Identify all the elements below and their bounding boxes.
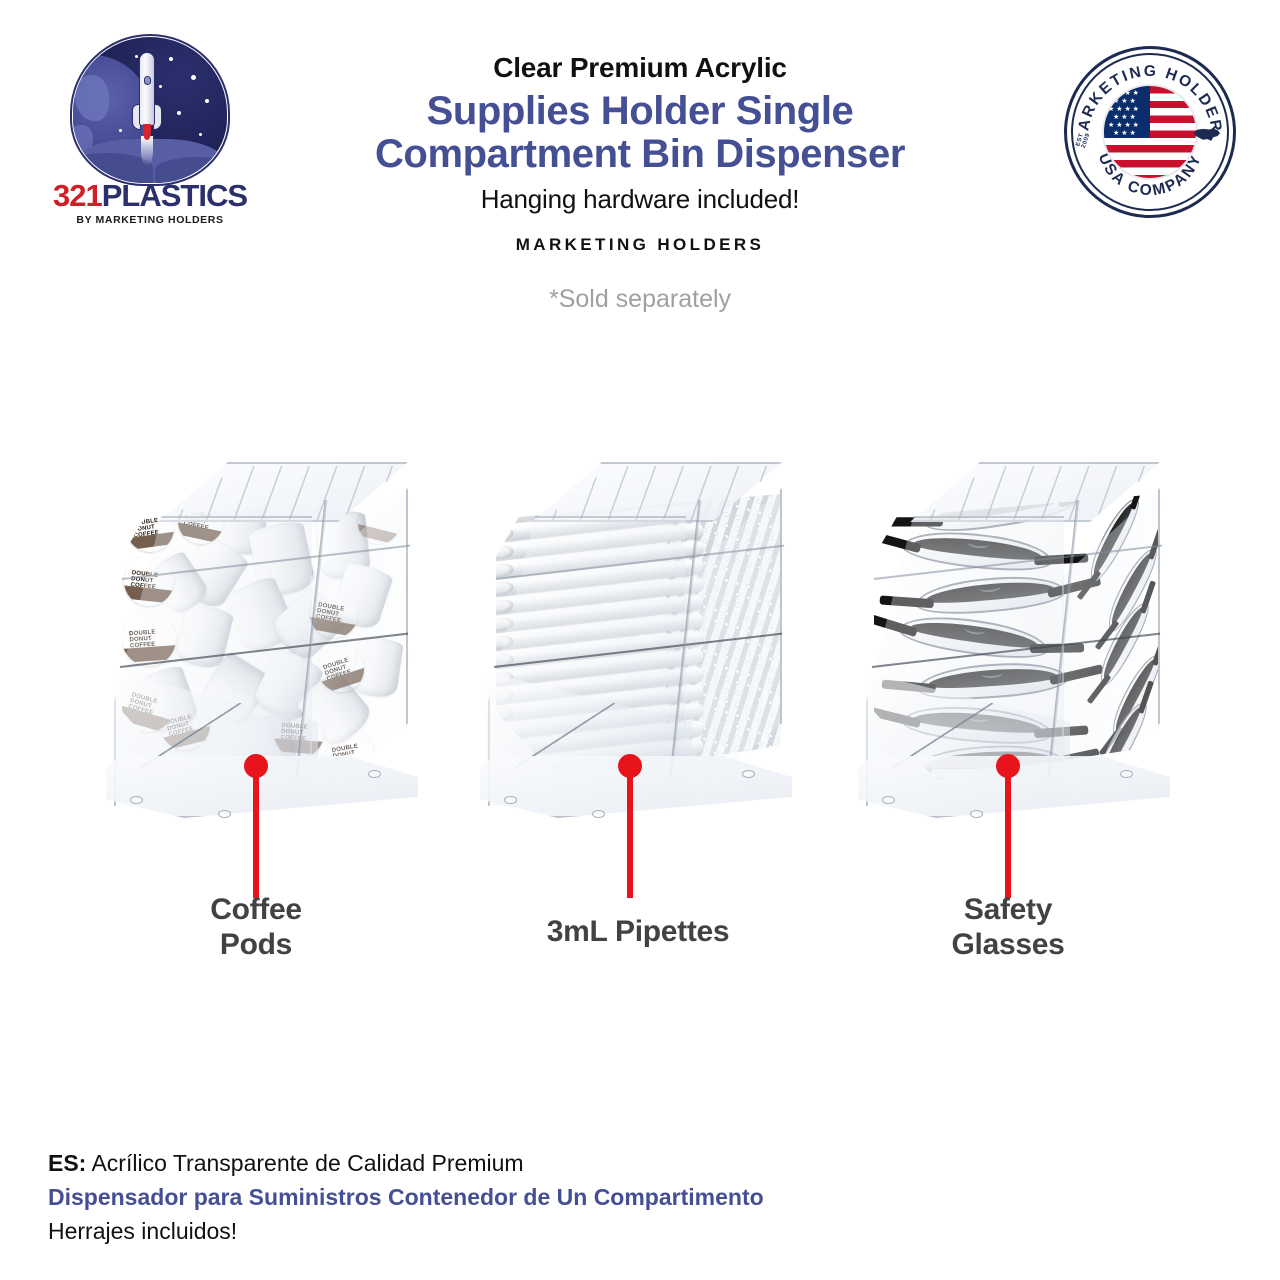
header-title-line1: Supplies Holder Single (260, 90, 1020, 133)
product-bin-safety-glasses (848, 460, 1188, 820)
header-eyebrow: Clear Premium Acrylic (260, 52, 1020, 84)
logo-wordmark: 321PLASTICS (42, 180, 258, 211)
product-row: DOUBLE DONUT COFFEE DOUBLE DONUT COFFEE … (0, 440, 1280, 860)
brand-logo-321plastics: 321PLASTICS BY MARKETING HOLDERS (42, 34, 258, 224)
es-line2: Dispensador para Suministros Contenedor … (48, 1180, 1148, 1214)
callout-label-safety-glasses: Safety Glasses (878, 892, 1138, 963)
sold-separately-note: *Sold separately (260, 285, 1020, 314)
rocket-globe-icon (70, 34, 230, 186)
es-line1: Acrílico Transparente de Calidad Premium (86, 1150, 523, 1176)
header: 321PLASTICS BY MARKETING HOLDERS Clear P… (0, 0, 1280, 340)
usa-flag-icon: ★ ★ ★ ★ ★ ★ ★ ★ ★ ★ ★ ★ ★ ★ ★ ★ ★ ★ ★ ★ … (1102, 84, 1198, 180)
header-title-line2: Compartment Bin Dispenser (260, 133, 1020, 176)
product-bin-coffee-pods: DOUBLE DONUT COFFEE DOUBLE DONUT COFFEE … (96, 460, 436, 820)
spanish-description: ES: Acrílico Transparente de Calidad Pre… (48, 1146, 1148, 1248)
product-marketing-image: 321PLASTICS BY MARKETING HOLDERS Clear P… (0, 0, 1280, 1280)
product-bin-pipettes (470, 460, 810, 820)
header-subtitle: Hanging hardware included! (260, 184, 1020, 215)
logo-tagline: BY MARKETING HOLDERS (42, 214, 258, 226)
logo-word-plastics: PLASTICS (102, 178, 247, 213)
callout-label-pipettes: 3mL Pipettes (508, 914, 768, 949)
es-prefix: ES: (48, 1150, 86, 1176)
header-text-block: Clear Premium Acrylic Supplies Holder Si… (260, 0, 1020, 314)
es-line3: Herrajes incluidos! (48, 1214, 1148, 1248)
header-brandline: MARKETING HOLDERS (260, 235, 1020, 255)
callout-label-coffee-pods: Coffee Pods (126, 892, 386, 963)
logo-word-321: 321 (53, 178, 102, 213)
usa-company-seal: MARKETING HOLDERS USA COMPANY ★ ★ ★ ★ ★ … (1064, 46, 1236, 218)
